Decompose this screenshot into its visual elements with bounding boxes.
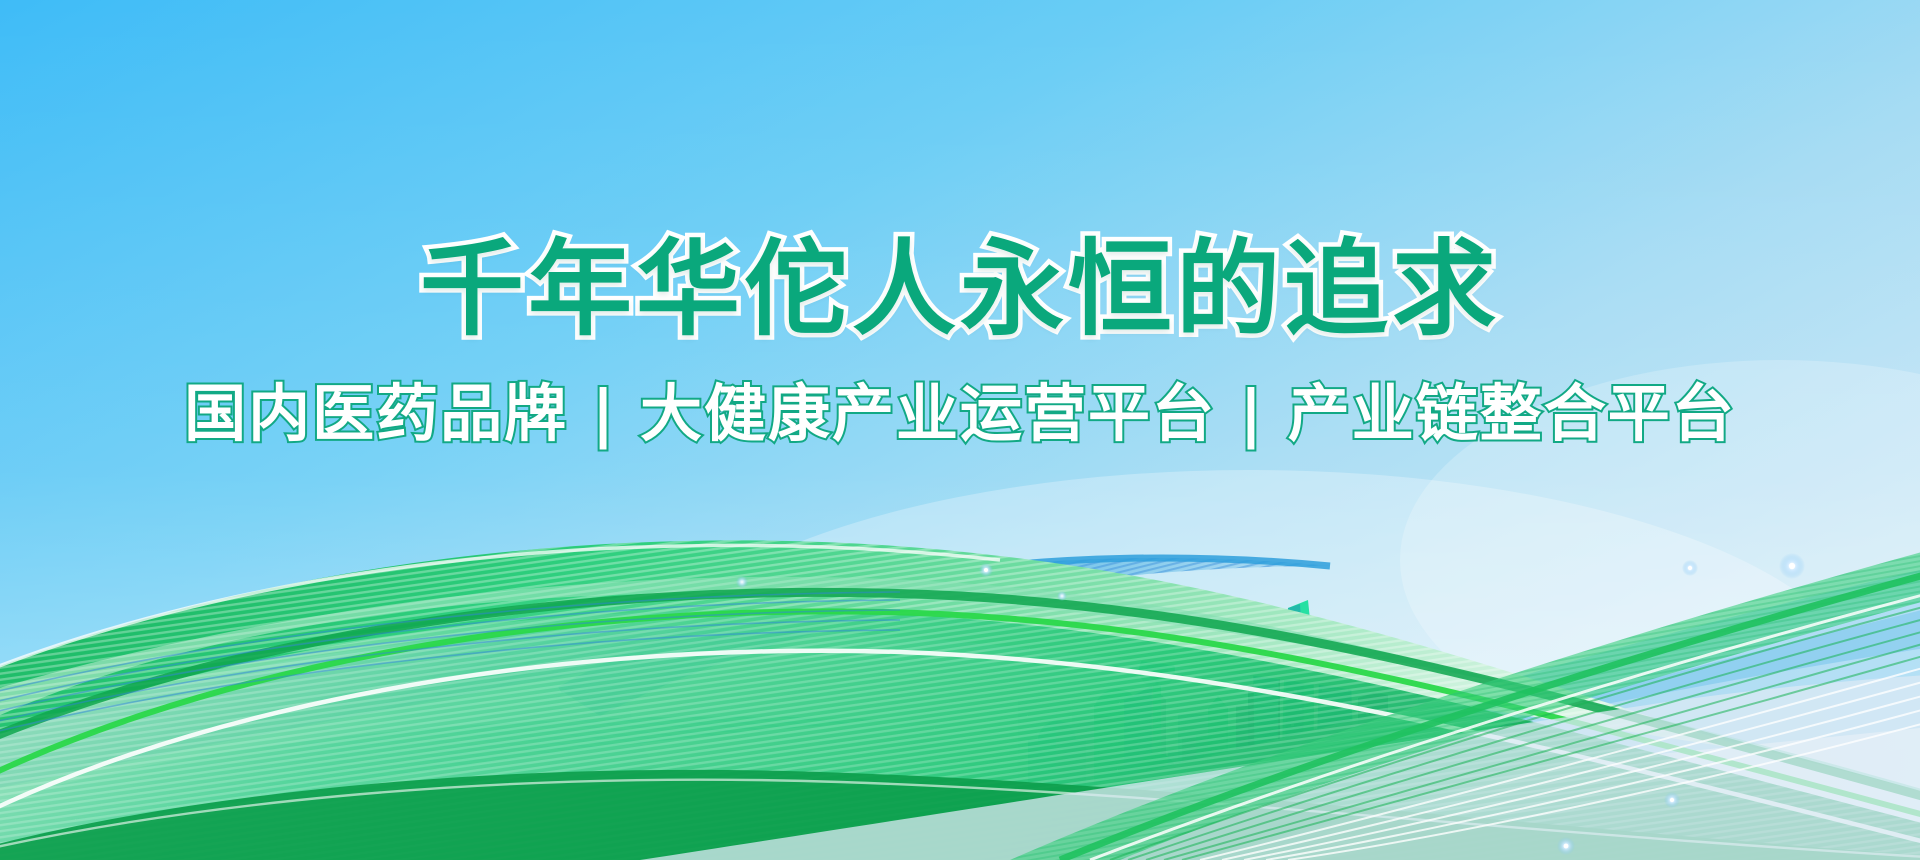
background-artwork	[0, 0, 1920, 860]
hero-banner: 千年华佗人永恒的追求 国内医药品牌 | 大健康产业运营平台 | 产业链整合平台	[0, 0, 1920, 860]
